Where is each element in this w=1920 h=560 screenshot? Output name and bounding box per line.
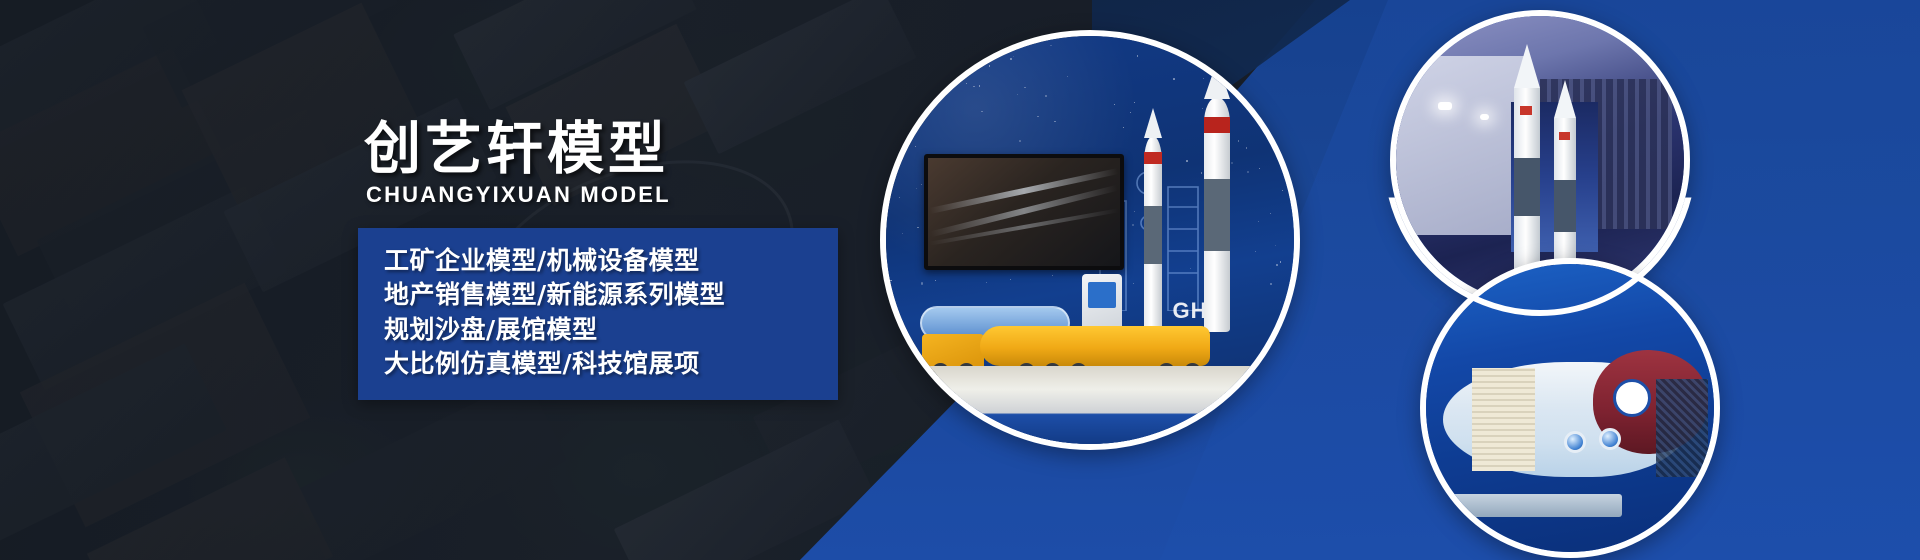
- display-platform: [886, 366, 1294, 444]
- brand-name-english: CHUANGYIXUAN MODEL: [366, 182, 918, 208]
- spot-lamp-2: [1480, 114, 1489, 120]
- wall-display-screen: [924, 154, 1124, 270]
- rocket-model-kz1a: [1144, 136, 1162, 336]
- hall-wall: [1396, 56, 1528, 235]
- service-line-3: 规划沙盘/展馆模型: [384, 313, 816, 348]
- promo-banner: 创艺轩模型 CHUANGYIXUAN MODEL 工矿企业模型/机械设备模型 地…: [0, 0, 1920, 560]
- submersible-viewport-2: [1599, 428, 1621, 450]
- submersible-thruster-frame: [1656, 379, 1708, 477]
- rocket-nose-kz1a: [1144, 108, 1162, 138]
- rocket-model-kz11: [1204, 97, 1230, 332]
- service-line-4: 大比例仿真模型/科技馆展项: [384, 347, 816, 382]
- photo-aerospace-exhibition-hall: GHT: [880, 30, 1300, 450]
- rocket-nose-kz11: [1204, 61, 1230, 99]
- brand-text-block: 创艺轩模型 CHUANGYIXUAN MODEL 工矿企业模型/机械设备模型 地…: [358, 120, 918, 400]
- service-line-2: 地产销售模型/新能源系列模型: [384, 278, 816, 313]
- brand-name-chinese: 创艺轩模型: [364, 120, 918, 180]
- submersible-emblem: [1613, 379, 1651, 417]
- rocket-nose-2: [1554, 80, 1576, 118]
- submersible-cradle: [1449, 494, 1622, 517]
- photo-deep-sea-submersible: [1420, 258, 1720, 558]
- service-line-1: 工矿企业模型/机械设备模型: [384, 244, 816, 279]
- rocket-nose-1: [1514, 44, 1540, 88]
- spot-lamp: [1438, 102, 1452, 110]
- submersible-side-panel: [1472, 368, 1535, 472]
- services-panel: 工矿企业模型/机械设备模型 地产销售模型/新能源系列模型 规划沙盘/展馆模型 大…: [358, 228, 838, 400]
